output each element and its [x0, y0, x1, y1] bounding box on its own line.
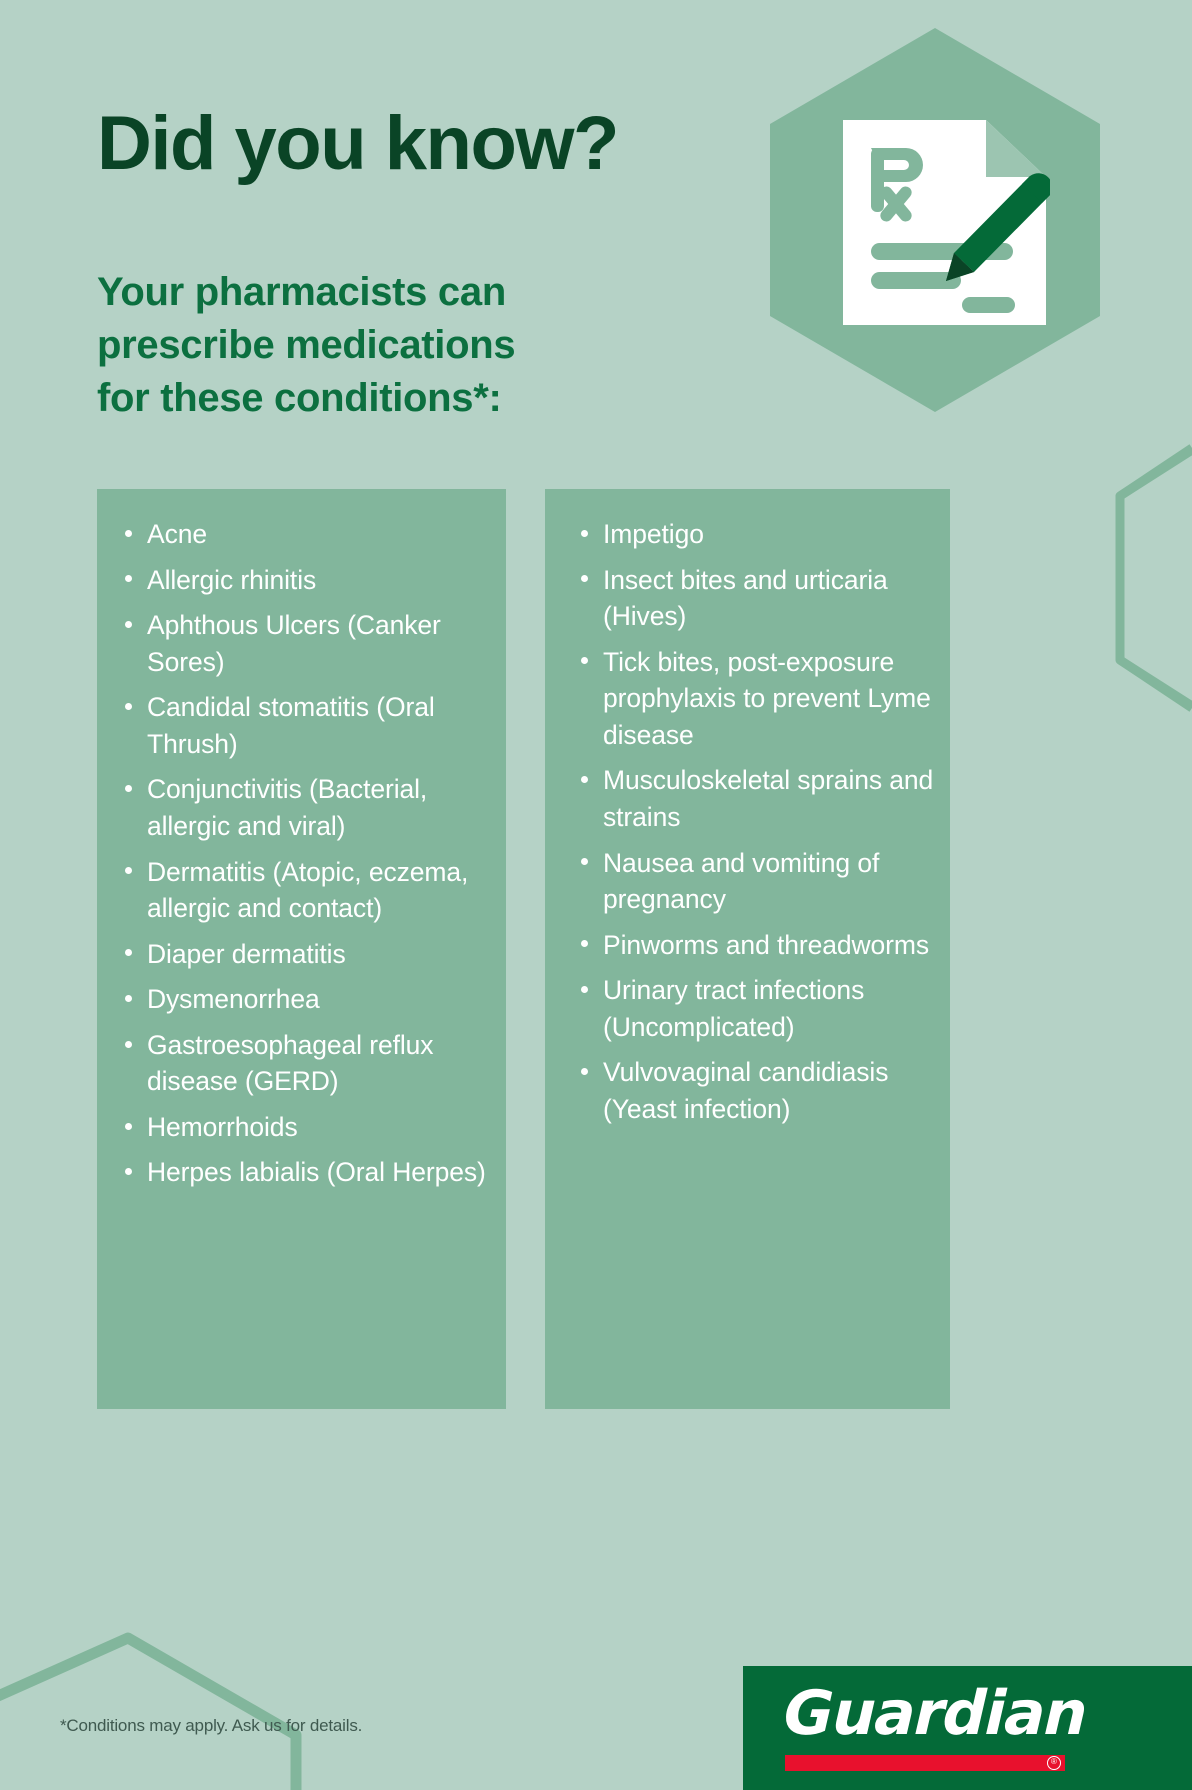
condition-label: Hemorrhoids [147, 1112, 298, 1142]
condition-label: Aphthous Ulcers (Canker Sores) [147, 610, 441, 677]
condition-label: Allergic rhinitis [147, 565, 316, 595]
prescription-document-icon [838, 115, 1050, 330]
condition-label: Candidal stomatitis (Oral Thrush) [147, 692, 435, 759]
condition-item: Vulvovaginal candidiasis (Yeast infectio… [575, 1054, 942, 1127]
condition-item: Gastroesophageal reflux disease (GERD) [119, 1027, 498, 1100]
bullet-dot-icon [581, 858, 588, 865]
conditions-list-right: ImpetigoInsect bites and urticaria (Hive… [545, 489, 950, 1127]
condition-item: Urinary tract infections (Uncomplicated) [575, 972, 942, 1045]
signature-line [962, 297, 1015, 313]
bullet-dot-icon [125, 995, 132, 1002]
condition-item: Allergic rhinitis [119, 562, 498, 599]
hexagon-outline-bottom-left [0, 1638, 296, 1790]
logo-red-rule [785, 1755, 1065, 1771]
condition-label: Musculoskeletal sprains and strains [603, 765, 933, 832]
hexagon-outline-right [1120, 448, 1192, 708]
condition-label: Insect bites and urticaria (Hives) [603, 565, 888, 632]
bullet-dot-icon [125, 575, 132, 582]
bullet-dot-icon [581, 530, 588, 537]
conditions-panel-right: ImpetigoInsect bites and urticaria (Hive… [545, 489, 950, 1409]
condition-label: Urinary tract infections (Uncomplicated) [603, 975, 864, 1042]
bullet-dot-icon [125, 785, 132, 792]
condition-item: Impetigo [575, 516, 942, 553]
condition-item: Herpes labialis (Oral Herpes) [119, 1154, 498, 1191]
subtitle-line-1: Your pharmacists can [97, 266, 737, 319]
condition-item: Conjunctivitis (Bacterial, allergic and … [119, 771, 498, 844]
condition-label: Pinworms and threadworms [603, 930, 929, 960]
logo-wordmark: Guardian [783, 1678, 1087, 1749]
conditions-panel-left: AcneAllergic rhinitisAphthous Ulcers (Ca… [97, 489, 506, 1409]
condition-label: Vulvovaginal candidiasis (Yeast infectio… [603, 1057, 888, 1124]
hexagon-outline-right-2 [1120, 450, 1192, 706]
bullet-dot-icon [581, 776, 588, 783]
condition-item: Pinworms and threadworms [575, 927, 942, 964]
bullet-dot-icon [125, 1123, 132, 1130]
bullet-dot-icon [125, 1168, 132, 1175]
condition-item: Aphthous Ulcers (Canker Sores) [119, 607, 498, 680]
header-block: Did you know? Your pharmacists can presc… [97, 106, 737, 424]
condition-item: Hemorrhoids [119, 1109, 498, 1146]
guardian-logo: Guardian ® [743, 1666, 1192, 1790]
condition-item: Tick bites, post-exposure prophylaxis to… [575, 644, 942, 754]
subtitle-line-3: for these conditions*: [97, 372, 737, 425]
bullet-dot-icon [581, 1068, 588, 1075]
folded-corner [986, 120, 1046, 177]
condition-item: Dysmenorrhea [119, 981, 498, 1018]
bullet-dot-icon [125, 530, 132, 537]
bullet-dot-icon [581, 940, 588, 947]
bullet-dot-icon [125, 621, 132, 628]
page-subtitle: Your pharmacists can prescribe medicatio… [97, 266, 737, 424]
condition-item: Dermatitis (Atopic, eczema, allergic and… [119, 854, 498, 927]
condition-label: Dermatitis (Atopic, eczema, allergic and… [147, 857, 468, 924]
condition-item: Nausea and vomiting of pregnancy [575, 845, 942, 918]
condition-label: Impetigo [603, 519, 704, 549]
condition-item: Insect bites and urticaria (Hives) [575, 562, 942, 635]
condition-label: Acne [147, 519, 207, 549]
condition-item: Diaper dermatitis [119, 936, 498, 973]
condition-label: Tick bites, post-exposure prophylaxis to… [603, 647, 931, 750]
condition-item: Musculoskeletal sprains and strains [575, 762, 942, 835]
bullet-dot-icon [125, 1041, 132, 1048]
conditions-panels: AcneAllergic rhinitisAphthous Ulcers (Ca… [97, 489, 1097, 1409]
bullet-dot-icon [581, 986, 588, 993]
condition-label: Conjunctivitis (Bacterial, allergic and … [147, 774, 427, 841]
condition-label: Dysmenorrhea [147, 984, 320, 1014]
condition-label: Nausea and vomiting of pregnancy [603, 848, 879, 915]
condition-label: Gastroesophageal reflux disease (GERD) [147, 1030, 433, 1097]
bullet-dot-icon [125, 949, 132, 956]
bullet-dot-icon [581, 657, 588, 664]
bullet-dot-icon [581, 575, 588, 582]
conditions-list-left: AcneAllergic rhinitisAphthous Ulcers (Ca… [97, 489, 506, 1191]
condition-item: Candidal stomatitis (Oral Thrush) [119, 689, 498, 762]
bullet-dot-icon [125, 867, 132, 874]
bullet-dot-icon [125, 703, 132, 710]
condition-label: Diaper dermatitis [147, 939, 346, 969]
registered-trademark-icon: ® [1047, 1756, 1061, 1770]
subtitle-line-2: prescribe medications [97, 319, 737, 372]
condition-label: Herpes labialis (Oral Herpes) [147, 1157, 486, 1187]
disclaimer-text: *Conditions may apply. Ask us for detail… [60, 1716, 362, 1736]
page-title: Did you know? [97, 106, 737, 182]
condition-item: Acne [119, 516, 498, 553]
